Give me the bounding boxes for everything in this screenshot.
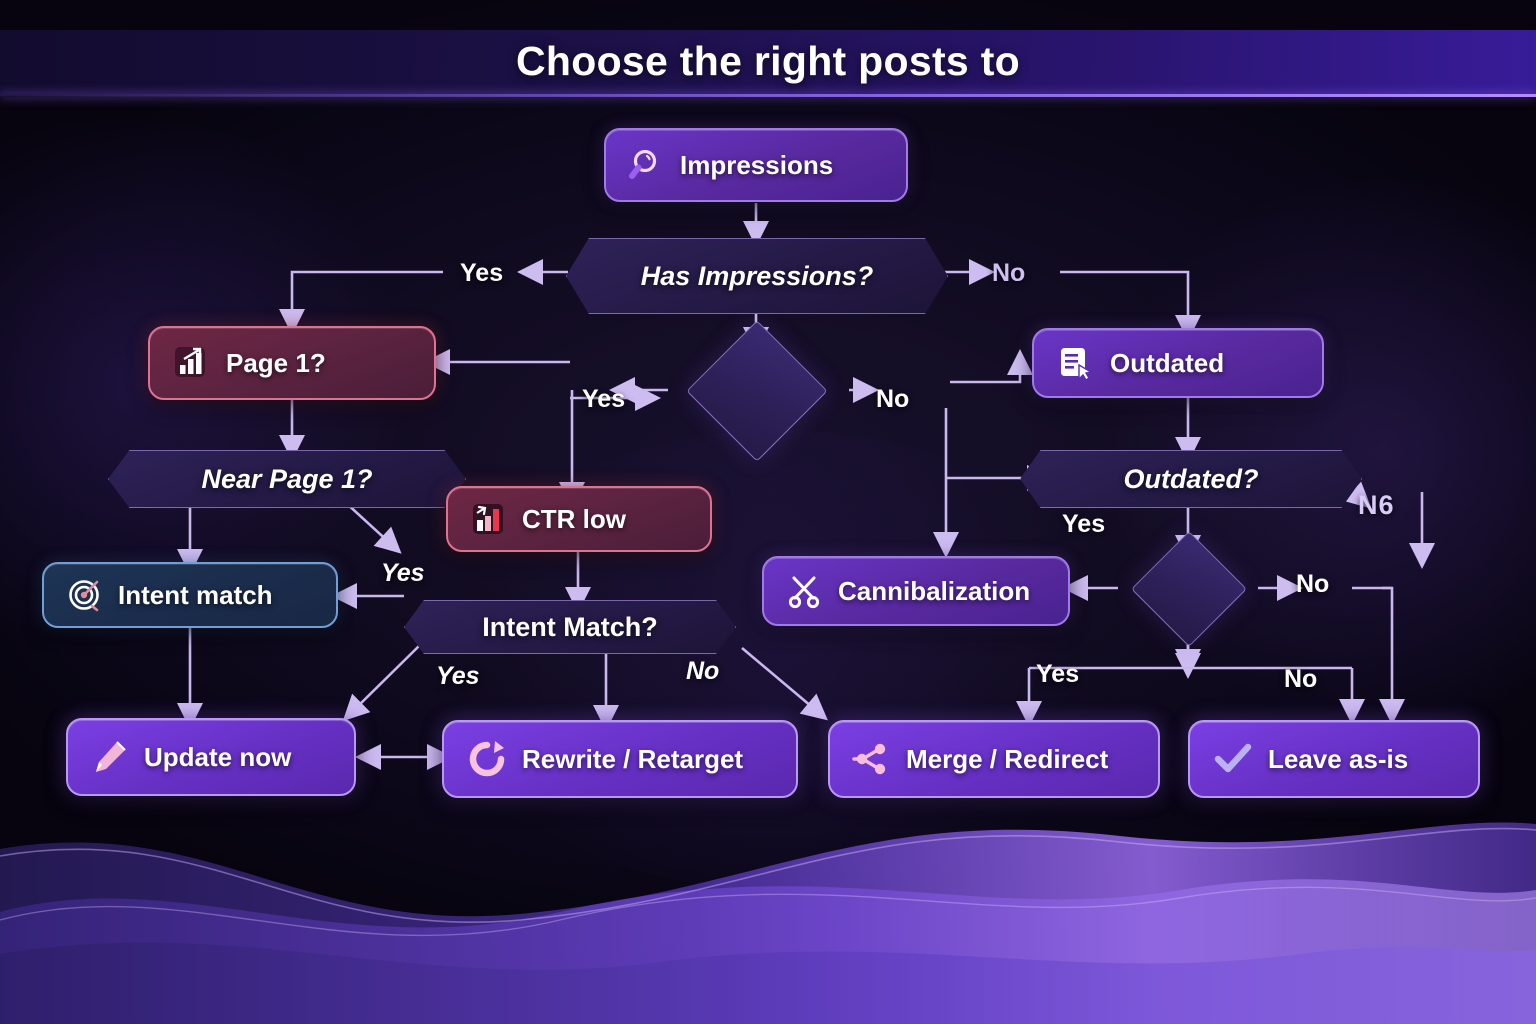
node-label: Outdated xyxy=(1110,350,1224,376)
decision-label: Intent Match? xyxy=(482,612,658,643)
decision-outdated[interactable]: Outdated? xyxy=(1020,450,1362,508)
node-intent-match[interactable]: Intent match xyxy=(42,562,338,628)
edge-label-no-mid: No xyxy=(876,385,909,414)
bar-chart-icon xyxy=(172,343,212,383)
diagram-canvas: Choose the right posts to xyxy=(0,0,1536,1024)
bar-chart-down-icon xyxy=(470,500,508,538)
refresh-icon xyxy=(466,738,508,780)
document-cursor-icon xyxy=(1056,343,1096,383)
edge-label-no-right-diamond: No xyxy=(1296,570,1329,599)
edge-label-no-bottom-right: No xyxy=(1284,665,1317,694)
node-ctr-low[interactable]: CTR low xyxy=(446,486,712,552)
decision-label: Near Page 1? xyxy=(201,464,372,495)
node-label: Intent match xyxy=(118,582,273,608)
decision-label: Outdated? xyxy=(1124,464,1259,495)
node-impressions[interactable]: Impressions xyxy=(604,128,908,202)
share-icon xyxy=(852,739,892,779)
decision-has-impressions[interactable]: Has Impressions? xyxy=(566,238,948,314)
node-label: Page 1? xyxy=(226,350,326,376)
node-label: Impressions xyxy=(680,152,833,178)
decision-near-page-1[interactable]: Near Page 1? xyxy=(108,450,466,508)
node-rewrite-retarget[interactable]: Rewrite / Retarget xyxy=(442,720,798,798)
magnifier-icon xyxy=(628,146,666,184)
edge-label-n6-artifact: N6 xyxy=(1358,490,1395,521)
edge-label-no-intent-match: No xyxy=(686,657,719,686)
edge-label-yes-bottom-right: Yes xyxy=(1036,660,1079,689)
node-label: CTR low xyxy=(522,506,626,532)
node-label: Merge / Redirect xyxy=(906,746,1108,772)
node-page-1[interactable]: Page 1? xyxy=(148,326,436,400)
decision-intent-match[interactable]: Intent Match? xyxy=(404,600,736,654)
node-leave-as-is[interactable]: Leave as-is xyxy=(1188,720,1480,798)
decision-label: Has Impressions? xyxy=(641,261,874,292)
node-update-now[interactable]: Update now xyxy=(66,718,356,796)
node-outdated[interactable]: Outdated xyxy=(1032,328,1324,398)
check-icon xyxy=(1212,738,1254,780)
scissors-icon xyxy=(786,572,824,610)
node-label: Cannibalization xyxy=(838,578,1030,604)
edge-label-no-has-impressions: No xyxy=(992,259,1025,288)
edge-label-yes-outdated: Yes xyxy=(1062,510,1105,539)
node-label: Update now xyxy=(144,744,291,770)
pencil-icon xyxy=(90,737,130,777)
edge-label-yes-mid: Yes xyxy=(582,385,625,414)
node-label: Rewrite / Retarget xyxy=(522,746,743,772)
edge-label-yes-intent-match: Yes xyxy=(436,662,480,691)
node-label: Leave as-is xyxy=(1268,746,1408,772)
edge-label-yes-near-page-1: Yes xyxy=(381,559,425,588)
edge-label-yes-has-impressions: Yes xyxy=(460,259,503,288)
node-merge-redirect[interactable]: Merge / Redirect xyxy=(828,720,1160,798)
node-cannibalization[interactable]: Cannibalization xyxy=(762,556,1070,626)
target-icon xyxy=(66,576,104,614)
